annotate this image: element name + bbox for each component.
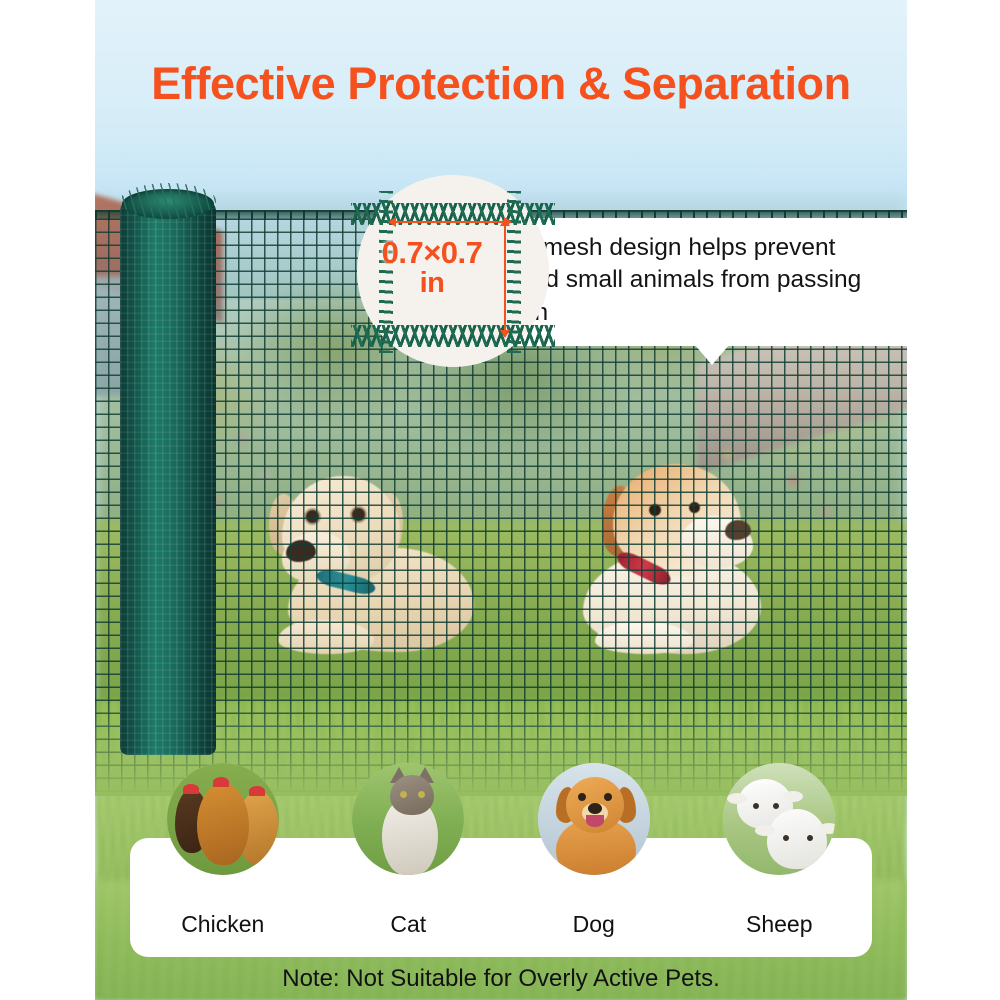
dog-behind-fence-left <box>260 470 480 660</box>
dimension-arrow-horizontal <box>395 221 505 223</box>
list-item-sheep[interactable]: Sheep <box>687 763 873 958</box>
product-infographic: Dense mesh design helps prevent pets and… <box>0 0 1000 1000</box>
chicken-photo <box>167 763 279 875</box>
list-item-chicken[interactable]: Chicken <box>130 763 316 958</box>
disclaimer-note: Note: Not Suitable for Overly Active Pet… <box>95 957 907 1000</box>
dog-behind-fence-right <box>565 460 815 660</box>
dog-eye-right <box>352 508 365 521</box>
mesh-dimension-magnifier: 0.7×0.7 in <box>357 175 549 367</box>
mesh-dimension-label: 0.7×0.7 in <box>357 237 507 298</box>
photo-canvas: Dense mesh design helps prevent pets and… <box>95 0 907 1000</box>
page-title: Effective Protection & Separation <box>95 58 907 110</box>
dog-eye-left <box>649 504 661 516</box>
mesh-dimension-value: 0.7×0.7 <box>382 235 483 270</box>
dog-eye-right <box>689 502 700 513</box>
mesh-roll-product <box>120 183 216 755</box>
dog-photo <box>538 763 650 875</box>
sheep-photo <box>723 763 835 875</box>
dog-paws <box>278 620 374 654</box>
animal-label: Dog <box>573 911 615 938</box>
animal-label: Chicken <box>181 911 264 938</box>
dog-paws <box>595 622 693 654</box>
list-item-dog[interactable]: Dog <box>501 763 687 958</box>
mesh-roll-loose-wires <box>120 183 216 219</box>
animal-label: Cat <box>390 911 426 938</box>
compatible-animals-list: Chicken Cat <box>130 763 872 958</box>
list-item-cat[interactable]: Cat <box>316 763 502 958</box>
mesh-dimension-unit: in <box>357 269 507 299</box>
magnified-mesh-wire-right <box>507 191 521 353</box>
dog-eye-left <box>306 510 319 523</box>
mesh-roll-tube <box>120 201 216 755</box>
animal-label: Sheep <box>746 911 813 938</box>
bubble-tail <box>695 345 729 365</box>
cat-photo <box>352 763 464 875</box>
